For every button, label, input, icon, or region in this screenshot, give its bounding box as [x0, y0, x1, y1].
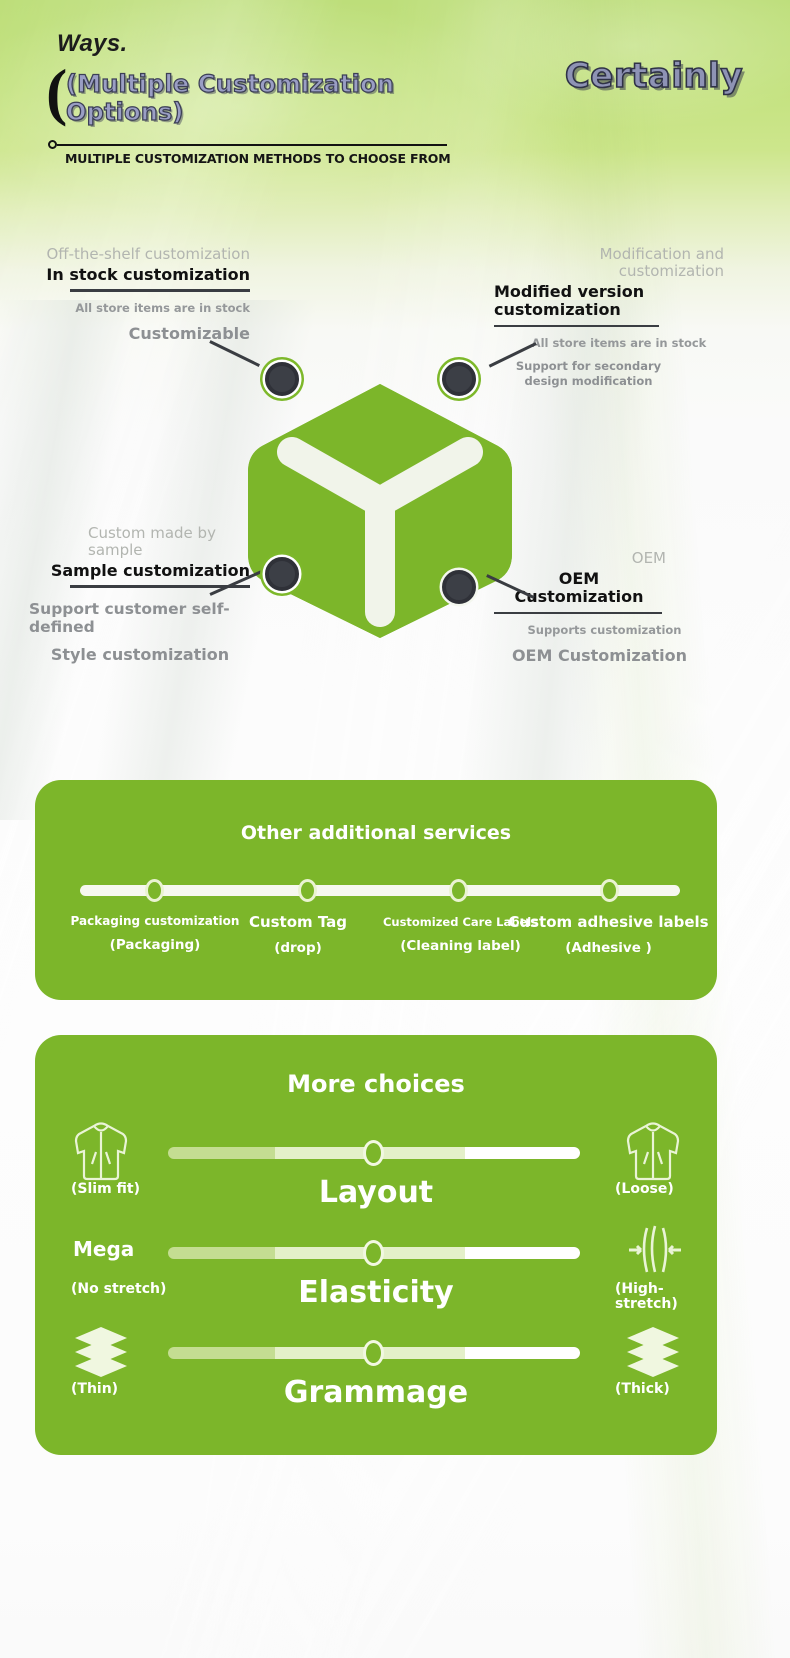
node-oem[interactable] — [442, 570, 476, 604]
label-modified-underline — [494, 325, 659, 328]
layout-row-name: Layout — [35, 1175, 717, 1210]
label-oem-ghost: OEM — [494, 550, 724, 567]
header-subtitle: MULTIPLE CUSTOMIZATION METHODS TO CHOOSE… — [65, 151, 450, 166]
label-sample: Custom made by sample Sample customizati… — [30, 525, 250, 664]
elasticity-slider-knob[interactable] — [363, 1240, 384, 1266]
elasticity-seg-3 — [465, 1247, 580, 1259]
services-knob-3[interactable] — [449, 879, 468, 902]
rule-line — [57, 144, 447, 147]
elasticity-seg-1 — [168, 1247, 275, 1259]
label-modified-title: Modified version customization — [494, 283, 724, 320]
service-item-2-name: Custom Tag — [218, 913, 378, 931]
grammage-row-name: Grammage — [35, 1375, 717, 1410]
label-oem-sub1: Supports customization — [512, 623, 697, 637]
services-card-title: Other additional services — [35, 822, 717, 844]
node-modified-version[interactable] — [442, 362, 476, 396]
label-oem-sub2: OEM Customization — [502, 646, 697, 665]
service-item-4: Custom adhesive labels (Adhesive ) — [501, 913, 716, 956]
label-in-stock: Off-the-shelf customization In stock cus… — [30, 246, 250, 343]
choice-row-grammage: (Thin) (Thick) Grammage — [35, 1320, 717, 1430]
leader-in-stock — [209, 340, 260, 366]
grammage-seg-1 — [168, 1347, 275, 1359]
label-modified-sub2: Support for secondary design modificatio… — [506, 359, 671, 388]
label-sample-sub2: Style customization — [30, 645, 250, 664]
choice-row-layout: (Slim fit) (Loose) Layout — [35, 1120, 717, 1230]
label-sample-ghost: Custom made by sample — [30, 525, 250, 559]
service-item-4-name: Custom adhesive labels — [501, 913, 716, 931]
service-item-2-paren: (drop) — [218, 940, 378, 956]
grammage-seg-3 — [465, 1347, 580, 1359]
eyebrow-text: Ways. — [57, 30, 127, 58]
services-slider-track[interactable] — [80, 885, 680, 896]
layout-seg-1 — [168, 1147, 275, 1159]
label-in-stock-sub1: All store items are in stock — [30, 301, 250, 315]
choices-card: More choices — [35, 1035, 717, 1455]
thick-layers-icon — [625, 1325, 681, 1382]
label-in-stock-underline — [70, 289, 250, 292]
label-oem-underline — [494, 612, 662, 615]
services-knob-2[interactable] — [298, 879, 317, 902]
services-knob-1[interactable] — [145, 879, 164, 902]
layout-seg-3 — [465, 1147, 580, 1159]
service-item-2: Custom Tag (drop) — [218, 913, 378, 956]
header-rule — [48, 143, 448, 146]
services-knob-4[interactable] — [600, 879, 619, 902]
label-in-stock-sub2: Customizable — [30, 324, 250, 343]
service-item-4-paren: (Adhesive ) — [501, 940, 716, 956]
rule-dot-icon — [48, 140, 57, 149]
cube-logo — [240, 380, 520, 642]
choice-row-elasticity: Mega (No stretch) (High-stretch) Elastic… — [35, 1220, 717, 1330]
grammage-slider-knob[interactable] — [363, 1340, 384, 1366]
services-card: Other additional services Packaging cust… — [35, 780, 717, 1000]
page-title: (Multiple Customization Options) — [66, 70, 466, 127]
infographic-page: Ways. ( (Multiple Customization Options)… — [0, 0, 790, 1658]
label-modified-sub1: All store items are in stock — [514, 336, 724, 350]
label-modified-ghost: Modification and customization — [494, 246, 724, 280]
thin-layers-icon — [73, 1325, 129, 1382]
node-sample[interactable] — [265, 557, 299, 591]
label-sample-title: Sample customization — [30, 562, 250, 581]
layout-slider-knob[interactable] — [363, 1140, 384, 1166]
label-modified-version: Modification and customization Modified … — [494, 246, 724, 388]
label-in-stock-ghost: Off-the-shelf customization — [30, 246, 250, 263]
label-oem: OEM OEM Customization Supports customiza… — [494, 550, 724, 665]
customization-diagram: Off-the-shelf customization In stock cus… — [0, 200, 790, 720]
page-header: Ways. ( (Multiple Customization Options)… — [0, 0, 790, 185]
label-sample-sub1: Support customer self-defined — [29, 600, 250, 636]
choices-card-title: More choices — [35, 1070, 717, 1098]
label-in-stock-title: In stock customization — [30, 266, 250, 285]
node-in-stock[interactable] — [265, 362, 299, 396]
brand-logo-text: Certainly — [565, 56, 743, 96]
elasticity-row-name: Elasticity — [35, 1275, 717, 1310]
mega-text-icon: Mega — [73, 1237, 134, 1261]
